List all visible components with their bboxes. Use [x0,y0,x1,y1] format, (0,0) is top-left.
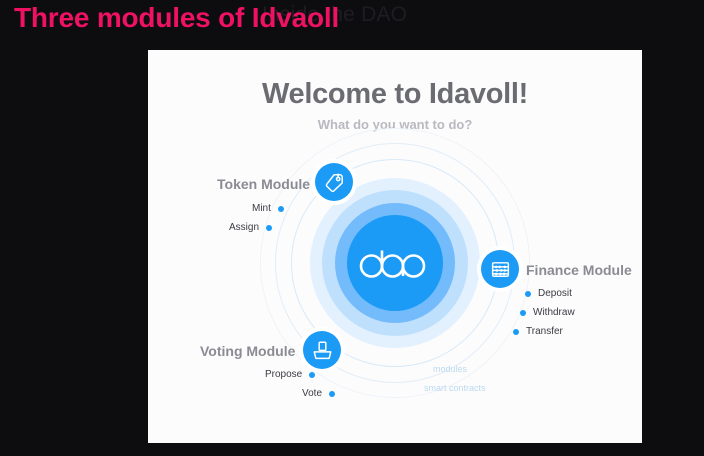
ballot-box-icon [312,340,333,361]
bullet-dot-icon [309,372,315,378]
module-item-label: Vote [302,388,322,399]
module-badge-voting[interactable] [303,331,341,369]
module-item-label: Assign [229,222,259,233]
slide-canvas: Inside the DAO Three modules of Idvaoll … [0,0,704,456]
bullet-dot-icon [278,206,284,212]
module-badge-finance[interactable] [481,250,519,288]
module-title-token: Token Module [217,176,310,192]
module-item-propose[interactable]: Propose [265,369,315,380]
module-item-label: Propose [265,369,302,380]
module-item-vote[interactable]: Vote [302,388,335,399]
legend-label-smart-contracts: smart contracts [424,383,486,393]
module-item-mint[interactable]: Mint [252,203,284,214]
module-badge-token[interactable] [315,163,353,201]
legend-label-modules: modules [433,364,467,374]
annotation-title: Three modules of Idvaoll [14,2,339,34]
bullet-dot-icon [520,310,526,316]
module-item-label: Mint [252,203,271,214]
tag-icon [324,172,345,193]
module-title-voting: Voting Module [200,343,295,359]
module-title-finance: Finance Module [526,262,632,278]
bullet-dot-icon [329,391,335,397]
idavoll-app-card: Welcome to Idavoll! What do you want to … [148,50,642,443]
module-item-transfer[interactable]: Transfer [513,326,563,337]
dao-wordmark-icon [357,246,433,280]
module-item-assign[interactable]: Assign [229,222,272,233]
bullet-dot-icon [266,225,272,231]
abacus-icon [490,259,511,280]
module-item-withdraw[interactable]: Withdraw [520,307,575,318]
bullet-dot-icon [525,291,531,297]
module-item-label: Withdraw [533,307,575,318]
module-item-deposit[interactable]: Deposit [525,288,572,299]
module-item-label: Deposit [538,288,572,299]
module-diagram: Token Module Mint Assign Finance Module … [148,50,642,443]
module-item-label: Transfer [526,326,563,337]
bullet-dot-icon [513,329,519,335]
